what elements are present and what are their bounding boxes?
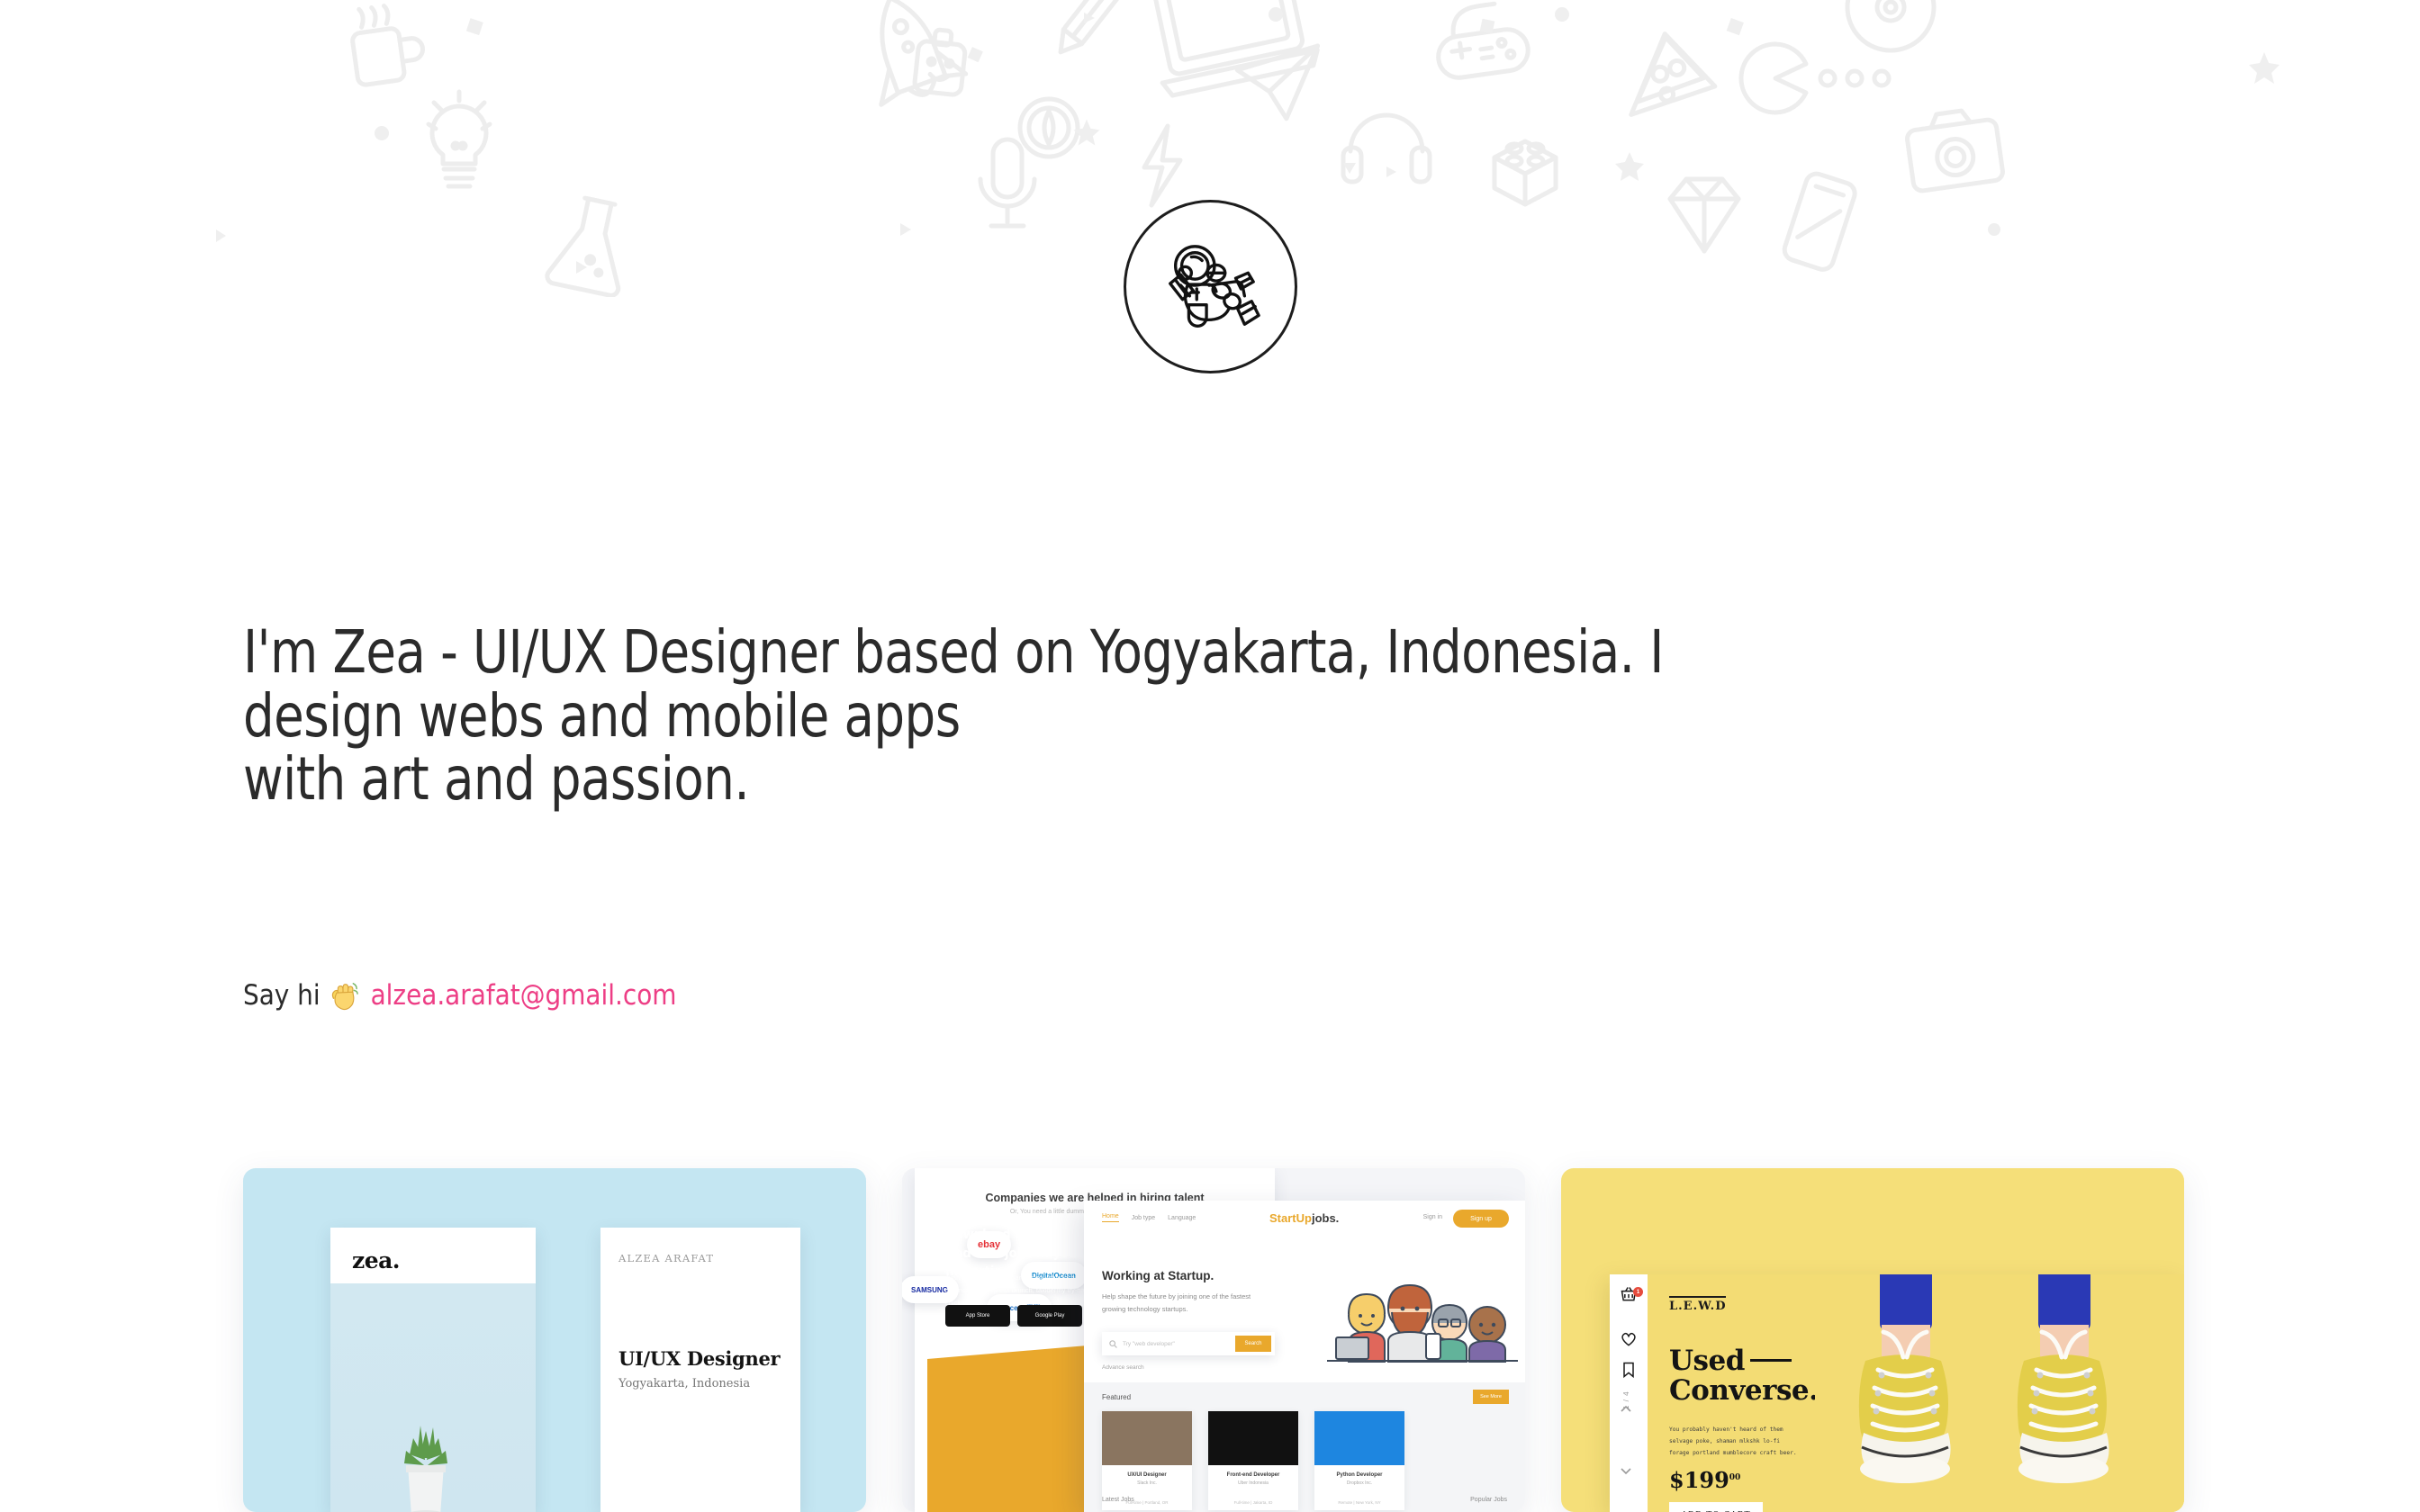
converse-shop-screen: 1 1 / 4 L.E.W.D bbox=[1610, 1274, 2184, 1512]
bookmark-icon[interactable] bbox=[1620, 1361, 1638, 1379]
add-to-cart-button[interactable]: ADD TO CART bbox=[1669, 1502, 1763, 1512]
smartphone-icon bbox=[1782, 171, 1857, 272]
nav-jobtype[interactable]: Job type bbox=[1132, 1215, 1155, 1221]
diamond-icon bbox=[1670, 179, 1738, 251]
startupjobs-landing-front: Home Job type Language StartUpjobs. Sign… bbox=[1084, 1201, 1525, 1512]
featured-label: Featured bbox=[1102, 1393, 1131, 1401]
brand-poster-right: ALZEA ARAFAT UI/UX Designer Yogyakarta, … bbox=[600, 1228, 800, 1512]
camera-icon bbox=[1904, 106, 2003, 192]
job-company: Dropbox Inc. bbox=[1314, 1480, 1404, 1486]
search-button[interactable]: Search bbox=[1235, 1336, 1271, 1352]
job-company: Uber Indonesia bbox=[1208, 1480, 1298, 1486]
project-card-branding[interactable]: zea. ALZEA ARAFAT UI/UX Designer Yogy bbox=[243, 1168, 866, 1512]
advanced-search-link[interactable]: Advance search bbox=[1102, 1364, 1144, 1371]
product-headline: Used Converse. bbox=[1669, 1346, 1818, 1407]
brand-mark: zea. bbox=[352, 1247, 400, 1273]
lightbulb-icon bbox=[429, 92, 490, 186]
product-price: $19900 bbox=[1669, 1467, 1740, 1493]
converse-product-photo bbox=[1815, 1274, 2184, 1512]
brand-kicker: ALZEA ARAFAT bbox=[619, 1252, 714, 1264]
paper-plane-icon bbox=[1233, 38, 1317, 121]
lego-brick-icon bbox=[1494, 141, 1556, 204]
job-meta: Remote | New York, NY bbox=[1314, 1500, 1404, 1505]
store-badges: App Store Google Play bbox=[945, 1305, 1082, 1327]
brand-role: UI/UX Designer bbox=[619, 1347, 780, 1370]
lightning-bolt-icon bbox=[1144, 126, 1180, 205]
slide-pagination: 1 / 4 bbox=[1622, 1390, 1630, 1409]
price-amount: $199 bbox=[1669, 1467, 1729, 1493]
job-thumbnail bbox=[1314, 1411, 1404, 1465]
gamepad-icon bbox=[1432, 0, 1531, 80]
site-logo[interactable] bbox=[1124, 200, 1297, 373]
portfolio-page: I'm Zea - UI/UX Designer based on Yogyak… bbox=[0, 0, 2420, 1512]
job-thumbnail bbox=[1102, 1411, 1192, 1465]
price-cents: 00 bbox=[1729, 1473, 1741, 1482]
cart-count-badge: 1 bbox=[1633, 1287, 1643, 1297]
contact-label: Say hi bbox=[243, 979, 321, 1012]
signin-link[interactable]: Sign in bbox=[1423, 1214, 1442, 1220]
nav-language[interactable]: Language bbox=[1168, 1215, 1196, 1221]
job-card[interactable]: Front-end Developer Uber Indonesia Full-… bbox=[1208, 1411, 1298, 1510]
product-headline-line1: Used bbox=[1669, 1345, 1745, 1377]
lego-head-icon bbox=[914, 28, 967, 95]
shop-brand: L.E.W.D bbox=[1669, 1296, 1726, 1313]
nav-home[interactable]: Home bbox=[1102, 1213, 1119, 1222]
contact-line: Say hi alzea.arafat@gmail.com bbox=[243, 979, 676, 1012]
see-more-button[interactable]: See More bbox=[1473, 1390, 1509, 1404]
project-card-converse[interactable]: 1 1 / 4 L.E.W.D bbox=[1561, 1168, 2184, 1512]
coffee-mug-icon bbox=[348, 2, 427, 86]
page-title: I'm Zea - UI/UX Designer based on Yogyak… bbox=[243, 621, 2065, 812]
rocket-icon bbox=[848, 0, 968, 110]
latest-jobs-link[interactable]: Latest Jobs bbox=[1102, 1497, 1134, 1503]
job-thumbnail bbox=[1208, 1411, 1298, 1465]
cd-disc-icon bbox=[1847, 0, 1934, 50]
pizza-icon bbox=[1614, 25, 1717, 114]
appstore-badge[interactable]: App Store bbox=[945, 1305, 1010, 1327]
brand-poster-left: zea. bbox=[330, 1228, 536, 1512]
chevron-down-icon[interactable] bbox=[1620, 1465, 1632, 1476]
laptop-icon bbox=[1142, 0, 1320, 97]
pencil-icon bbox=[1052, 0, 1133, 59]
job-title: Python Developer bbox=[1314, 1472, 1404, 1478]
job-title: Front-end Developer bbox=[1208, 1472, 1298, 1478]
googleplay-badge[interactable]: Google Play bbox=[1017, 1305, 1082, 1327]
product-description: You probably haven't heard of them selva… bbox=[1669, 1424, 1802, 1459]
project-cards: zea. ALZEA ARAFAT UI/UX Designer Yogy bbox=[0, 1168, 2420, 1512]
startupjobs-logo: StartUpjobs. bbox=[1269, 1211, 1339, 1225]
shop-icon-rail: 1 1 / 4 bbox=[1610, 1274, 1648, 1512]
team-illustration bbox=[1327, 1278, 1518, 1363]
signup-button[interactable]: Sign up bbox=[1453, 1210, 1509, 1228]
brand-location: Yogyakarta, Indonesia bbox=[619, 1377, 750, 1390]
job-search-bar[interactable]: Try "web developer" Search bbox=[1102, 1332, 1275, 1355]
logo-part-startup: StartUp bbox=[1269, 1211, 1312, 1225]
microphone-icon bbox=[980, 139, 1034, 226]
search-icon bbox=[1109, 1340, 1117, 1348]
job-card[interactable]: Python Developer Dropbox Inc. Remote | N… bbox=[1314, 1411, 1404, 1510]
hero-body: Help shape the future by joining one of … bbox=[1102, 1291, 1273, 1317]
email-link[interactable]: alzea.arafat@gmail.com bbox=[371, 979, 677, 1012]
flask-icon bbox=[546, 193, 635, 296]
search-placeholder: Try "web developer" bbox=[1123, 1341, 1175, 1347]
headline-dash bbox=[1750, 1359, 1792, 1362]
compass-icon bbox=[1020, 99, 1078, 157]
job-title: UX/UI Designer bbox=[1102, 1472, 1192, 1478]
product-headline-line2: Converse. bbox=[1669, 1374, 1818, 1407]
logo-part-jobs: jobs. bbox=[1312, 1211, 1339, 1225]
heart-icon[interactable] bbox=[1620, 1330, 1638, 1348]
job-card[interactable]: UX/UI Designer Slack Inc. Full-time | Po… bbox=[1102, 1411, 1192, 1510]
astronaut-logo-icon bbox=[1124, 200, 1297, 373]
job-company: Slack Inc. bbox=[1102, 1480, 1192, 1486]
plant-photo bbox=[383, 1415, 469, 1512]
job-meta: Full-time | Jakarta, ID bbox=[1208, 1500, 1298, 1505]
project-card-startupjobs[interactable]: Companies we are helped in hiring talent… bbox=[902, 1168, 1525, 1512]
hero-headline: Working at Startup. bbox=[1102, 1269, 1214, 1282]
pacman-icon bbox=[1741, 44, 1889, 112]
hero-section: I'm Zea - UI/UX Designer based on Yogyak… bbox=[243, 621, 2224, 812]
headphones-icon bbox=[1343, 115, 1430, 182]
popular-jobs-link[interactable]: Popular Jobs bbox=[1470, 1497, 1507, 1503]
waving-hand-icon bbox=[328, 980, 358, 1011]
